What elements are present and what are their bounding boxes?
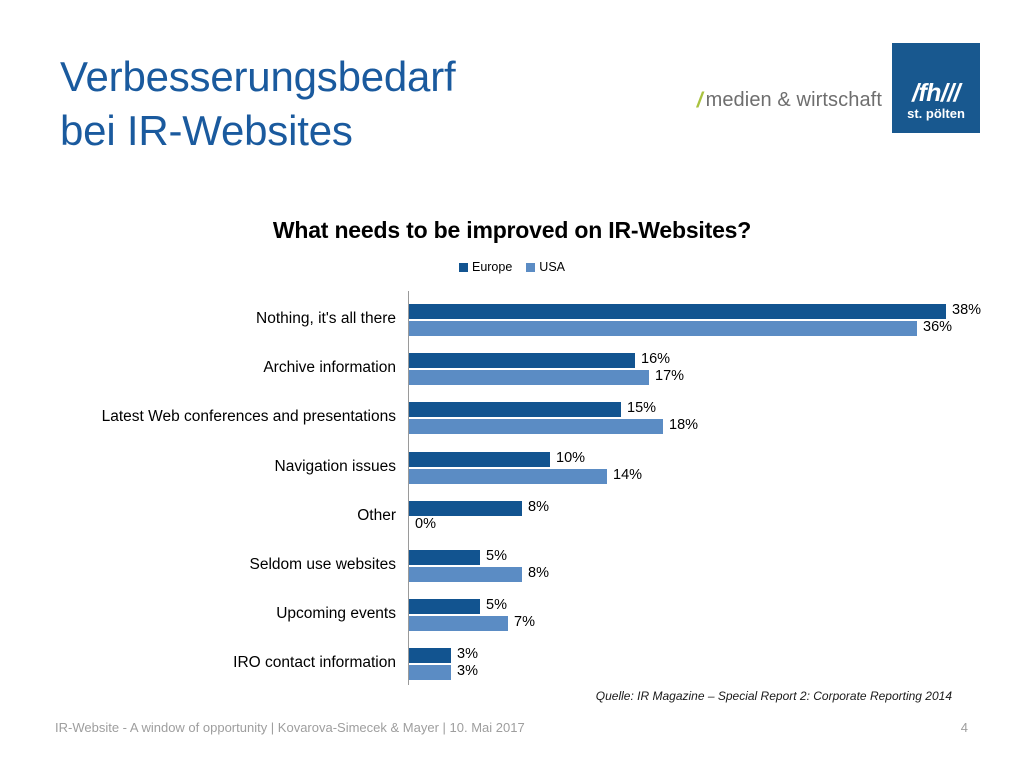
green-slash-icon: / bbox=[697, 90, 703, 111]
category-axis-label: IRO contact information bbox=[0, 654, 396, 672]
chart-category-group: Seldom use websites5%8% bbox=[408, 550, 1008, 582]
bar-rect bbox=[409, 304, 946, 319]
bar-value-label: 15% bbox=[627, 400, 656, 416]
bar-rect bbox=[409, 452, 550, 467]
bar-value-label: 3% bbox=[457, 663, 478, 679]
logo-badge: /fh/// st. pölten bbox=[892, 43, 980, 133]
bar-value-label: 18% bbox=[669, 417, 698, 433]
bar-rect bbox=[409, 469, 607, 484]
category-axis-label: Upcoming events bbox=[0, 605, 396, 623]
bar-value-label: 0% bbox=[415, 516, 436, 532]
bar-rect bbox=[409, 353, 635, 368]
bar-rect bbox=[409, 665, 451, 680]
logo-fh-mark: /fh/// bbox=[892, 81, 980, 106]
fh-stpoelten-logo: / medien & wirtschaft /fh/// st. pölten bbox=[697, 43, 980, 133]
legend-entry-usa[interactable]: USA bbox=[526, 260, 565, 274]
page-title: Verbesserungsbedarf bei IR-Websites bbox=[60, 50, 455, 158]
bar-rect bbox=[409, 501, 522, 516]
bar-value-label: 5% bbox=[486, 548, 507, 564]
category-axis-label: Other bbox=[0, 507, 396, 525]
bar-value-label: 16% bbox=[641, 351, 670, 367]
chart-title: What needs to be improved on IR-Websites… bbox=[0, 217, 1024, 244]
bar-value-label: 17% bbox=[655, 368, 684, 384]
footer-page-number: 4 bbox=[961, 720, 968, 735]
chart-category-group: Archive information16%17% bbox=[408, 353, 1008, 385]
bar-value-label: 38% bbox=[952, 302, 981, 318]
logo-city-label: st. pölten bbox=[892, 107, 980, 120]
legend-entry-europe[interactable]: Europe bbox=[459, 260, 512, 274]
legend-swatch-icon bbox=[526, 263, 535, 272]
bar-value-label: 5% bbox=[486, 597, 507, 613]
bar-chart: What needs to be improved on IR-Websites… bbox=[0, 200, 1024, 700]
chart-category-group: Navigation issues10%14% bbox=[408, 452, 1008, 484]
bar-rect bbox=[409, 419, 663, 434]
footer-caption: IR-Website - A window of opportunity | K… bbox=[55, 720, 525, 735]
bar-value-label: 36% bbox=[923, 319, 952, 335]
category-axis-label: Latest Web conferences and presentations bbox=[0, 408, 396, 426]
bar-rect bbox=[409, 321, 917, 336]
bar-rect bbox=[409, 599, 480, 614]
chart-category-group: Nothing, it's all there38%36% bbox=[408, 304, 1008, 336]
bar-value-label: 8% bbox=[528, 499, 549, 515]
bar-rect bbox=[409, 648, 451, 663]
bar-rect bbox=[409, 550, 480, 565]
chart-category-group: Other8%0% bbox=[408, 501, 1008, 533]
chart-category-group: Latest Web conferences and presentations… bbox=[408, 402, 1008, 434]
logo-wordmark-label: medien & wirtschaft bbox=[706, 90, 882, 110]
chart-legend: EuropeUSA bbox=[0, 260, 1024, 274]
legend-swatch-icon bbox=[459, 263, 468, 272]
legend-label: Europe bbox=[472, 260, 512, 274]
category-axis-label: Archive information bbox=[0, 359, 396, 377]
chart-category-group: Upcoming events5%7% bbox=[408, 599, 1008, 631]
logo-wordmark: / medien & wirtschaft bbox=[697, 90, 882, 111]
bar-value-label: 10% bbox=[556, 450, 585, 466]
bar-rect bbox=[409, 370, 649, 385]
bar-rect bbox=[409, 616, 508, 631]
bar-value-label: 14% bbox=[613, 467, 642, 483]
bar-value-label: 8% bbox=[528, 565, 549, 581]
chart-category-group: IRO contact information3%3% bbox=[408, 648, 1008, 680]
category-axis-label: Nothing, it's all there bbox=[0, 310, 396, 328]
bar-value-label: 3% bbox=[457, 646, 478, 662]
legend-label: USA bbox=[539, 260, 565, 274]
chart-source-note: Quelle: IR Magazine – Special Report 2: … bbox=[596, 689, 952, 703]
bar-value-label: 7% bbox=[514, 614, 535, 630]
category-axis-label: Seldom use websites bbox=[0, 556, 396, 574]
bar-rect bbox=[409, 402, 621, 417]
bar-rect bbox=[409, 567, 522, 582]
category-axis-label: Navigation issues bbox=[0, 458, 396, 476]
chart-plot-area: Nothing, it's all there38%36%Archive inf… bbox=[408, 291, 1008, 685]
